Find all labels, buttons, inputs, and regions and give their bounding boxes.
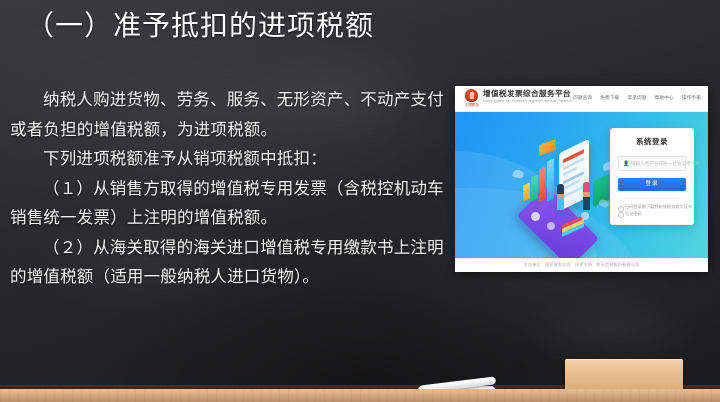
- logo-caption: 中国税务: [464, 103, 480, 107]
- login-link-forgot-password[interactable]: 忘记密码: [618, 211, 686, 218]
- brand-title-cn: 增值税发票综合服务平台: [483, 89, 572, 98]
- site-hero: 系统登录 👤 请输入用户名或统一社会信用代码 登录 扫码登录需下载并安装税务数字…: [455, 112, 708, 258]
- nav-item-4[interactable]: 操作手册: [682, 95, 701, 101]
- illustration-search-icon: [531, 212, 540, 221]
- nav-item-0[interactable]: 问题咨询: [573, 95, 592, 101]
- wood-grain-texture: [0, 389, 720, 402]
- illustration-bar: [531, 174, 538, 201]
- illustration-orange-tag: [539, 139, 556, 156]
- chalk-ledge: [0, 389, 720, 402]
- paragraph-lead-in: 下列进项税额准予从销项税额中抵扣：: [10, 145, 450, 175]
- embedded-website-screenshot: 中国税务 增值税发票综合服务平台 Value Added Tax Invoice…: [455, 86, 708, 272]
- illustration-leaf-decor: [512, 168, 525, 179]
- illustration-bar: [547, 158, 554, 201]
- illustration-bar: [539, 166, 546, 201]
- illustration-dot-icon: [581, 212, 589, 220]
- username-field[interactable]: 👤 请输入用户名或统一社会信用代码: [618, 156, 686, 171]
- brand-title-en: Value Added Tax Invoice Integrated Servi…: [483, 99, 572, 104]
- blackboard-eraser: [565, 359, 683, 389]
- body-text-block: 纳税人购进货物、劳务、服务、无形资产、不动产支付或者负担的增值税额，为进项税额。…: [10, 86, 450, 293]
- illustration-person: [583, 182, 590, 210]
- tax-bureau-logo-icon: 中国税务: [464, 89, 479, 108]
- illustration-person: [557, 184, 564, 210]
- illustration-bar: [523, 182, 530, 201]
- login-helper-links: 扫码登录需下载并安装税务数字证书 忘记密码: [618, 198, 686, 217]
- login-link-forgot-password-label: 忘记密码: [625, 211, 642, 216]
- login-button[interactable]: 登录: [618, 178, 686, 191]
- illustration-dot-icon: [547, 222, 555, 230]
- login-title: 系统登录: [618, 137, 686, 147]
- username-placeholder: 请输入用户名或统一社会信用代码: [631, 161, 700, 167]
- paragraph-item-2: （２）从海关取得的海关进口增值税专用缴款书上注明的增值税额（适用一般纳税人进口货…: [10, 234, 450, 293]
- logo-emblem: [465, 89, 478, 102]
- paragraph-intro: 纳税人购进货物、劳务、服务、无形资产、不动产支付或者负担的增值税额，为进项税额。: [10, 86, 450, 145]
- nav-item-2[interactable]: 常见问题: [627, 95, 646, 101]
- login-card: 系统登录 👤 请输入用户名或统一社会信用代码 登录 扫码登录需下载并安装税务数字…: [610, 128, 694, 225]
- paragraph-item-1: （１）从销售方取得的增值税专用发票（含税控机动车销售统一发票）上注明的增值税额。: [10, 175, 450, 234]
- page-title: （一）准予抵扣的进项税额: [26, 6, 374, 46]
- login-link-certificate-label: 扫码登录需下载并安装税务数字证书: [625, 204, 692, 209]
- slide-canvas: （一）准予抵扣的进项税额 纳税人购进货物、劳务、服务、无形资产、不动产支付或者负…: [0, 0, 720, 402]
- nav-item-1[interactable]: 免费下载: [600, 95, 619, 101]
- nav-item-3[interactable]: 帮助中心: [655, 95, 674, 101]
- bullet-icon: [618, 212, 624, 218]
- site-brand: 增值税发票综合服务平台 Value Added Tax Invoice Inte…: [483, 89, 572, 104]
- site-footer: 主办单位：国家税务总局 技术支持：航天信息股份有限公司: [455, 258, 708, 272]
- footer-copyright: 主办单位：国家税务总局 技术支持：航天信息股份有限公司: [455, 262, 708, 268]
- illustration-books: [562, 220, 584, 233]
- site-nav: 问题咨询 免费下载 常见问题 帮助中心 操作手册: [573, 95, 701, 101]
- site-header: 中国税务 增值税发票综合服务平台 Value Added Tax Invoice…: [455, 86, 708, 112]
- user-icon: 👤: [623, 161, 628, 167]
